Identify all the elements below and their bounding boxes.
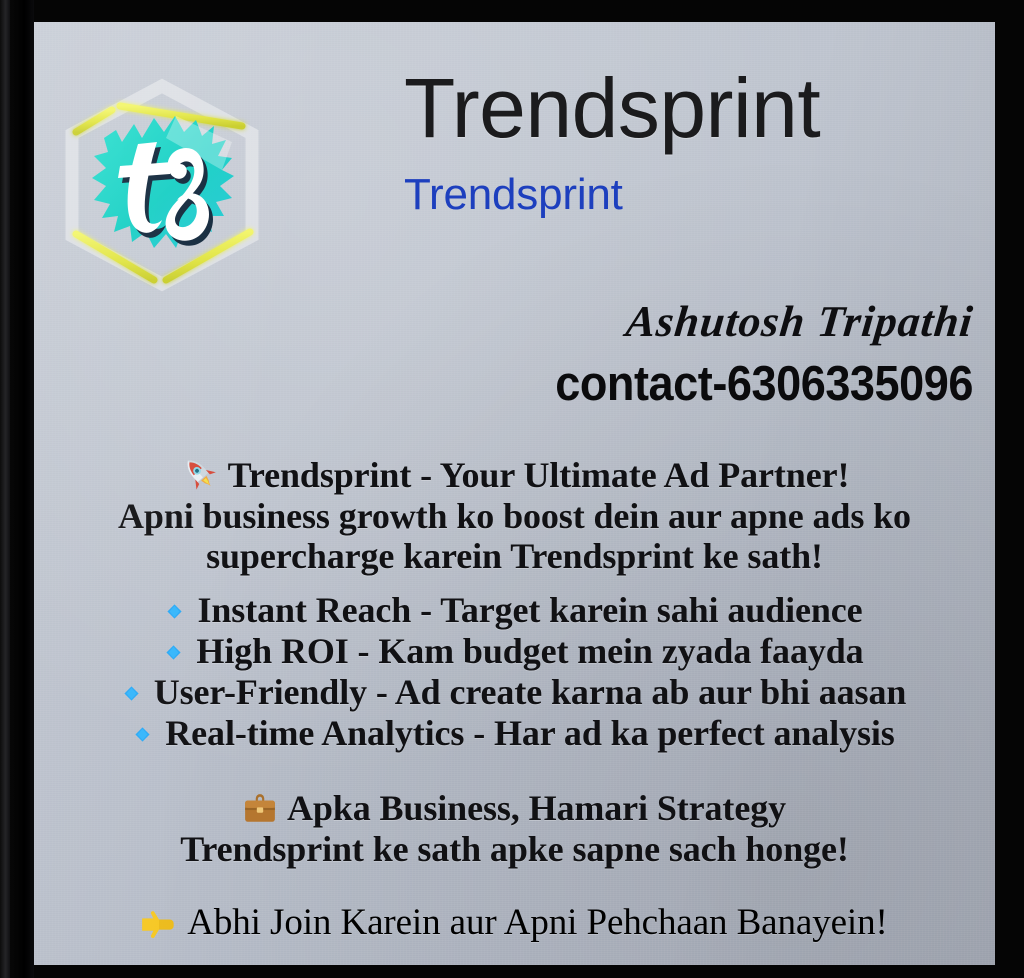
device-bezel-left-edge xyxy=(0,0,10,978)
brand-title: Trendsprint xyxy=(404,60,984,156)
spacer xyxy=(34,754,995,788)
bullet-row-4: Real-time Analytics - Har ad ka perfect … xyxy=(34,713,995,754)
bullet-text-3: User-Friendly - Ad create karna ab aur b… xyxy=(154,672,907,712)
footer-cta: Abhi Join Karein aur Apni Pehchaan Banay… xyxy=(34,902,995,943)
blue-diamond-icon xyxy=(123,685,140,702)
photo-frame: Trendsprint Trendsprint Ashutosh Tripath… xyxy=(0,0,1024,978)
brand-block: Trendsprint Trendsprint xyxy=(404,60,984,224)
bullet-row-1: Instant Reach - Target karein sahi audie… xyxy=(34,590,995,631)
contact-block: Ashutosh Tripathi contact-6306335096 xyxy=(353,294,973,414)
bullet-row-3: User-Friendly - Ad create karna ab aur b… xyxy=(34,672,995,713)
blue-diamond-icon xyxy=(166,603,183,620)
cta-text: Abhi Join Karein aur Apni Pehchaan Banay… xyxy=(187,902,887,943)
blue-diamond-icon xyxy=(134,726,151,743)
intro-line-2: supercharge karein Trendsprint ke sath! xyxy=(34,536,995,576)
headline-text: Trendsprint - Your Ultimate Ad Partner! xyxy=(228,455,850,495)
bullet-text-4: Real-time Analytics - Har ad ka perfect … xyxy=(165,713,894,753)
contact-phone[interactable]: contact-6306335096 xyxy=(403,354,973,414)
spacer xyxy=(34,576,995,590)
blue-diamond-icon xyxy=(165,644,182,661)
tagline-sub: Trendsprint ke sath apke sapne sach hong… xyxy=(34,829,995,869)
intro-line-1: Apni business growth ko boost dein aur a… xyxy=(34,496,995,536)
body-copy: Trendsprint - Your Ultimate Ad Partner! … xyxy=(34,454,995,869)
bullet-text-2: High ROI - Kam budget mein zyada faayda xyxy=(196,631,863,671)
headline-row: Trendsprint - Your Ultimate Ad Partner! xyxy=(34,454,995,496)
poster-sheet: Trendsprint Trendsprint Ashutosh Tripath… xyxy=(34,22,995,965)
bullet-row-2: High ROI - Kam budget mein zyada faayda xyxy=(34,631,995,672)
brand-subtitle: Trendsprint xyxy=(404,166,984,224)
cta-row[interactable]: Abhi Join Karein aur Apni Pehchaan Banay… xyxy=(34,902,995,943)
device-bezel-dark-gap xyxy=(10,0,34,978)
poster-header: Trendsprint Trendsprint xyxy=(34,22,995,302)
pointing-right-hand-icon xyxy=(141,909,177,939)
tagline-text: Apka Business, Hamari Strategy xyxy=(287,788,786,828)
trendsprint-hexagon-logo-icon xyxy=(46,72,278,298)
bullet-text-1: Instant Reach - Target karein sahi audie… xyxy=(197,590,862,630)
tagline-row: Apka Business, Hamari Strategy xyxy=(34,788,995,829)
owner-name: Ashutosh Tripathi xyxy=(350,294,976,350)
briefcase-icon xyxy=(243,793,277,825)
rocket-icon xyxy=(180,454,218,492)
